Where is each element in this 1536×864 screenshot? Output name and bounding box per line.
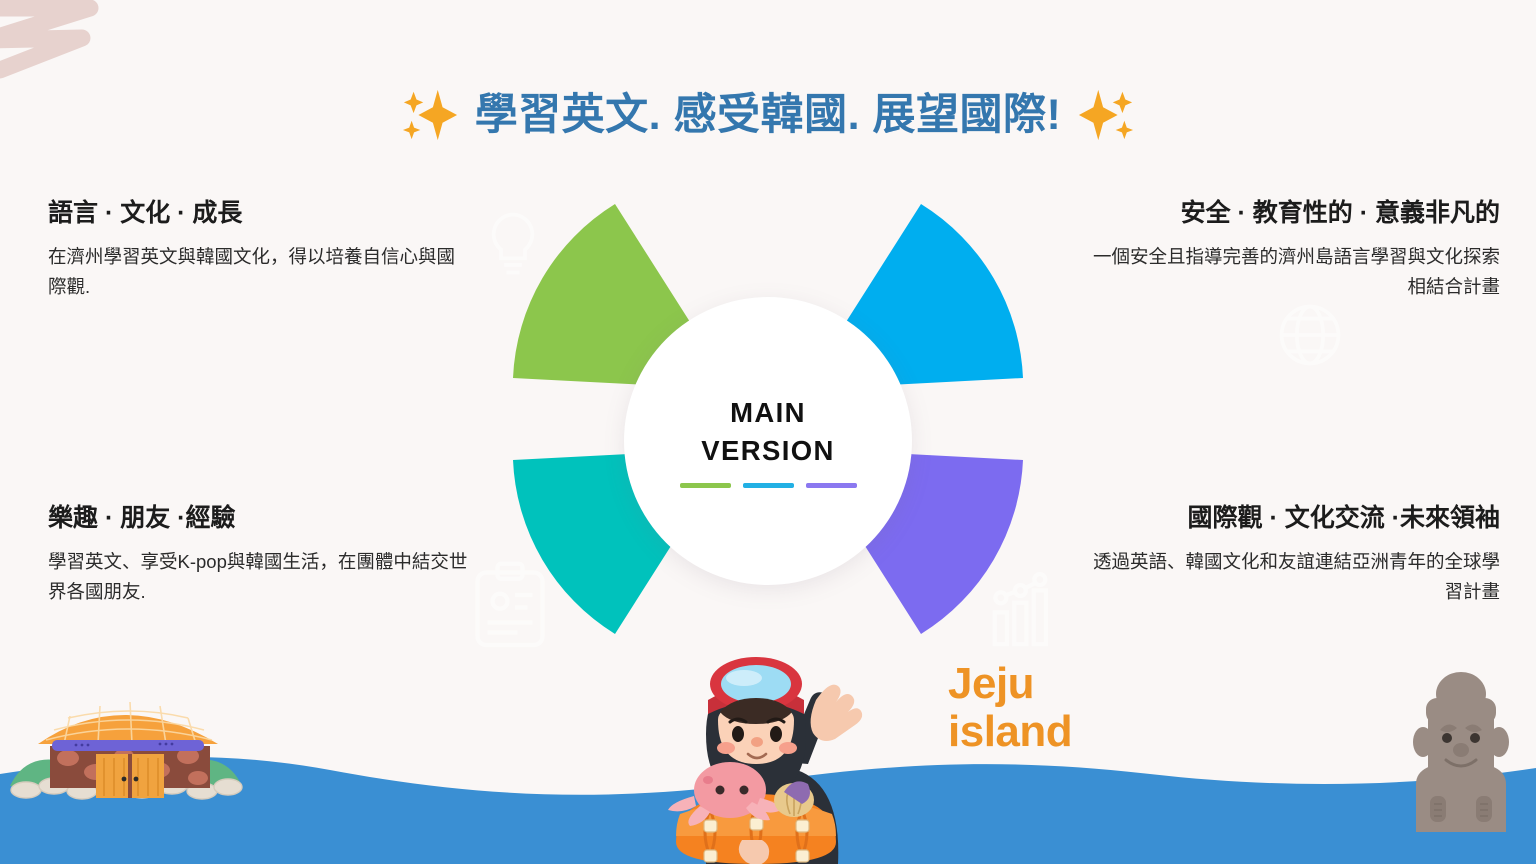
page-title: 學習英文. 感受韓國. 展望國際!: [0, 86, 1536, 144]
wheel-center-line2: VERSION: [701, 432, 835, 470]
sparkle-icon: [1077, 86, 1135, 144]
sparkle-icon: [401, 86, 459, 144]
scribble-decoration: [0, 0, 152, 80]
haenyeo-diver-illustration: [634, 642, 876, 864]
wheel-center-line1: MAIN: [730, 394, 806, 432]
feature-block-fun-friends-experience: 樂趣 · 朋友 ·經驗 學習英文、享受K-pop與韓國生活，在團體中結交世界各國…: [48, 503, 468, 607]
feature-heading: 樂趣 · 朋友 ·經驗: [48, 503, 468, 534]
dol-hareubang-statue-illustration: [1398, 664, 1524, 832]
brand-line2: island: [948, 708, 1148, 756]
feature-body: 學習英文、享受K-pop與韓國生活，在團體中結交世界各國朋友.: [48, 547, 468, 607]
segmented-wheel-diagram: MAIN VERSION: [497, 186, 1039, 652]
brand-line1: Jeju: [948, 660, 1148, 708]
feature-block-safe-educational-meaningful: 安全 · 教育性的 · 意義非凡的 一個安全且指導完善的濟州島語言學習與文化探索…: [1076, 198, 1500, 302]
feature-block-global-exchange-leaders: 國際觀 · 文化交流 ·未來領袖 透過英語、韓國文化和友誼連結亞洲青年的全球學習…: [1076, 503, 1500, 607]
wheel-center-dashes: [680, 483, 857, 488]
dash-green: [680, 483, 731, 488]
globe-icon: [1275, 300, 1345, 370]
dash-purple: [806, 483, 857, 488]
wheel-center-hub: MAIN VERSION: [624, 297, 912, 585]
feature-body: 透過英語、韓國文化和友誼連結亞洲青年的全球學習計畫: [1076, 547, 1500, 607]
feature-heading: 安全 · 教育性的 · 意義非凡的: [1076, 198, 1500, 229]
dash-blue: [743, 483, 794, 488]
feature-body: 在濟州學習英文與韓國文化，得以培養自信心與國際觀.: [48, 242, 468, 302]
jeju-thatched-house-illustration: [0, 682, 260, 808]
feature-heading: 國際觀 · 文化交流 ·未來領袖: [1076, 503, 1500, 534]
feature-body: 一個安全且指導完善的濟州島語言學習與文化探索相結合計畫: [1076, 242, 1500, 302]
page-title-text: 學習英文. 感受韓國. 展望國際!: [475, 94, 1062, 137]
feature-block-language-culture-growth: 語言 · 文化 · 成長 在濟州學習英文與韓國文化，得以培養自信心與國際觀.: [48, 198, 468, 302]
feature-heading: 語言 · 文化 · 成長: [48, 198, 468, 229]
jeju-island-brand: Jeju island: [948, 660, 1148, 755]
